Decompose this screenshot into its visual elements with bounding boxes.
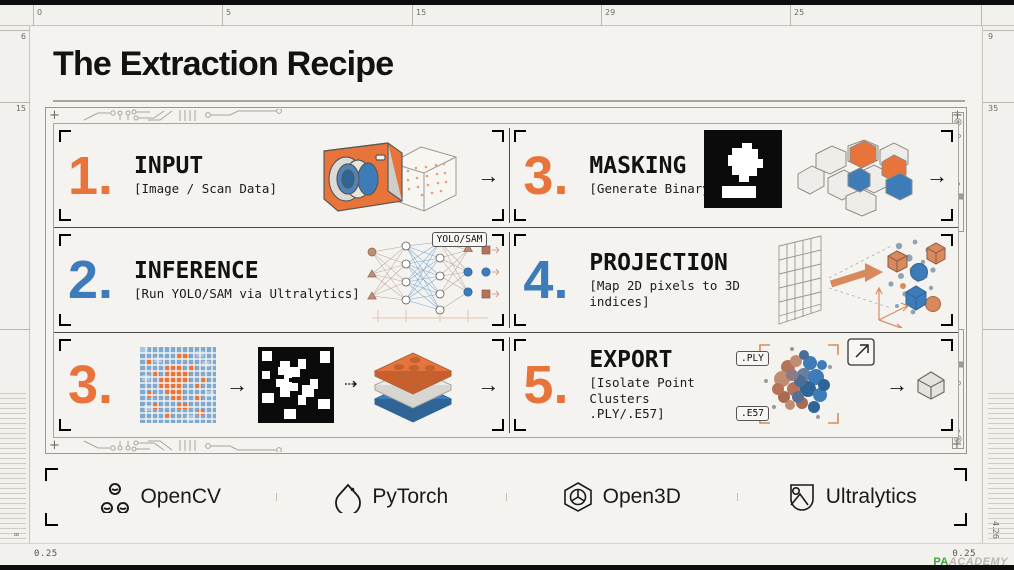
step-number: 1. [68, 154, 134, 198]
output-cube-icon [914, 368, 948, 402]
footer-logos: OpenCV PyTorch [45, 462, 967, 532]
step-text: PROJECTION [Map 2D pixels to 3D indices] [589, 251, 773, 309]
ruler-tick: 5 [222, 5, 231, 26]
ruler-tick: 25 [790, 5, 804, 26]
opencv-icon [99, 481, 131, 513]
ruler-tick-label: 15 [16, 104, 26, 113]
step-card-masking[interactable]: 3. MASKING [Generate Binary Masks] [509, 124, 958, 228]
flow-arrow: → [477, 165, 499, 187]
logo-label: PyTorch [372, 485, 448, 509]
step-subtitle: [Image / Scan Data] [134, 181, 277, 197]
corner-bracket [514, 130, 526, 142]
ruler-bottom[interactable]: 0.25 0.25 [0, 543, 1014, 565]
ruler-left-edge-value: ∞ [12, 530, 21, 539]
binary-mask-icon [258, 347, 334, 423]
column-divider [509, 232, 510, 327]
ruler-tick-label: 35 [988, 104, 998, 113]
pytorch-icon [333, 481, 363, 513]
ruler-tick-label: 6 [21, 32, 26, 41]
frame-inner: 1. INPUT [Image / Scan Data] [53, 123, 959, 438]
ruler-tick: 9 [983, 30, 1014, 42]
corner-bracket [514, 209, 526, 221]
step-text: INFERENCE [Run YOLO/SAM via Ultralytics] [134, 259, 360, 302]
ruler-tick-label: 0 [37, 8, 42, 17]
step-title: PROJECTION [589, 251, 773, 275]
circuit-trace-icon [80, 109, 520, 122]
crosshair-icon: + [49, 440, 60, 451]
step-artwork-export: .PLY .E57 [752, 333, 948, 437]
camera-icon [296, 133, 471, 219]
ruler-hatching-left [0, 393, 26, 543]
logo-label: Open3D [603, 485, 681, 509]
step-number: 5. [523, 363, 589, 407]
ruler-tick-label: 5 [226, 8, 231, 17]
ruler-tick [981, 5, 985, 26]
step-artwork-projection [773, 228, 948, 331]
ruler-left[interactable]: 6 15 ∞ [0, 26, 30, 543]
step-subtitle: [Isolate Point Clusters .PLY/.E57] [589, 375, 752, 422]
step-artwork-camera-voxel: → [296, 124, 499, 227]
column-divider [509, 128, 510, 223]
ruler-tick-label: 15 [416, 8, 426, 17]
flow-arrow-2: → [477, 374, 499, 396]
format-chip-ply[interactable]: .PLY [736, 351, 769, 366]
corner-bracket [59, 234, 71, 246]
ruler-tick: 0 [33, 5, 42, 26]
voxel-brain-icon [790, 134, 920, 218]
letterbox-top [0, 0, 1014, 5]
step-title: EXPORT [589, 348, 752, 372]
slide-canvas: The Extraction Recipe + + + + [31, 27, 981, 542]
ruler-right[interactable]: 9 35 4.26 [982, 26, 1014, 543]
step-artwork-mask-brain: → [790, 124, 948, 227]
flow-arrow: → [926, 165, 948, 187]
ruler-tick: 15 [412, 5, 426, 26]
step-card-projection[interactable]: 4. PROJECTION [Map 2D pixels to 3D indic… [509, 228, 958, 332]
column-divider [509, 337, 510, 433]
letterbox-bottom [0, 565, 1014, 570]
format-chip-e57[interactable]: .E57 [736, 406, 769, 421]
ruler-tick-label: 25 [794, 8, 804, 17]
ruler-top[interactable]: 0 5 15 29 25 [0, 5, 1014, 26]
ruler-tick: 6 [0, 30, 30, 42]
binary-mask-icon [704, 130, 782, 208]
corner-bracket [59, 419, 71, 431]
flow-arrow: → [886, 374, 908, 396]
step-number: 4. [523, 258, 589, 302]
corner-bracket [59, 209, 71, 221]
stacked-layers-icon [367, 347, 459, 423]
flow-arrow-dashed: ⇢ [344, 377, 357, 393]
step-number: 2. [68, 258, 134, 302]
neural-network-icon [364, 234, 499, 326]
step-title: INPUT [134, 154, 277, 178]
step-title: INFERENCE [134, 259, 360, 283]
step-number: 3. [523, 154, 589, 198]
corner-bracket [514, 234, 526, 246]
logo-ultralytics[interactable]: Ultralytics [737, 481, 968, 513]
steps-grid: 1. INPUT [Image / Scan Data] [54, 124, 958, 437]
watermark-suffix: ACADEMY [949, 556, 1008, 568]
corner-bracket [45, 468, 58, 481]
model-badge: YOLO/SAM [432, 232, 488, 247]
ruler-tick-label: 9 [988, 32, 993, 41]
ruler-right-edge-value: 4.26 [991, 521, 1000, 539]
logo-opencv[interactable]: OpenCV [45, 481, 276, 513]
corner-bracket [954, 468, 967, 481]
step-card-export[interactable]: 5. EXPORT [Isolate Point Clusters .PLY/.… [509, 333, 958, 437]
technical-frame: + + + + [45, 107, 967, 454]
corner-bracket [59, 314, 71, 326]
logo-label: Ultralytics [826, 485, 917, 509]
step-number: 3. [68, 363, 134, 407]
corner-bracket [514, 419, 526, 431]
step-text: INPUT [Image / Scan Data] [134, 154, 277, 197]
corner-bracket [59, 130, 71, 142]
logo-open3d[interactable]: Open3D [506, 481, 737, 513]
ruler-tick-label: 29 [605, 8, 615, 17]
step-artwork-pipeline: → [140, 333, 499, 437]
step-subtitle: [Run YOLO/SAM via Ultralytics] [134, 286, 360, 302]
step-artwork-neural-net: YOLO/SAM [364, 228, 499, 331]
corner-bracket [45, 513, 58, 526]
pixel-grid-icon [140, 347, 216, 423]
ruler-tick [983, 329, 1014, 330]
logo-pytorch[interactable]: PyTorch [276, 481, 507, 513]
step-text: EXPORT [Isolate Point Clusters .PLY/.E57… [589, 348, 752, 422]
point-cluster-icon [752, 337, 880, 433]
corner-bracket [514, 314, 526, 326]
ruler-tick: 29 [601, 5, 615, 26]
title-divider [53, 100, 965, 102]
ultralytics-icon [787, 481, 817, 513]
flow-arrow-1: → [226, 374, 248, 396]
crosshair-icon: + [49, 110, 60, 121]
watermark-prefix: PA [933, 556, 948, 568]
corner-bracket [514, 339, 526, 351]
corner-bracket [954, 513, 967, 526]
app-root: 0 5 15 29 25 6 15 ∞ 9 35 4.26 0.25 0.25 … [0, 0, 1014, 570]
title-block: The Extraction Recipe [31, 27, 981, 84]
point-cloud-projection-icon [773, 232, 948, 328]
watermark: PAACADEMY [933, 556, 1008, 568]
circuit-trace-icon [80, 439, 520, 452]
logo-label: OpenCV [140, 485, 221, 509]
ruler-tick: 15 [0, 102, 30, 114]
ruler-tick: 35 [983, 102, 1014, 114]
bottom-left-value: 0.25 [34, 549, 58, 559]
step-card-inference[interactable]: 2. INFERENCE [Run YOLO/SAM via Ultralyti… [54, 228, 509, 332]
corner-bracket [59, 339, 71, 351]
step-card-mask-pipeline[interactable]: 3. [54, 333, 509, 437]
step-card-input[interactable]: 1. INPUT [Image / Scan Data] [54, 124, 509, 228]
page-title: The Extraction Recipe [53, 45, 981, 84]
step-subtitle: [Map 2D pixels to 3D indices] [589, 278, 773, 309]
open3d-icon [562, 481, 594, 513]
ruler-tick [0, 329, 30, 330]
